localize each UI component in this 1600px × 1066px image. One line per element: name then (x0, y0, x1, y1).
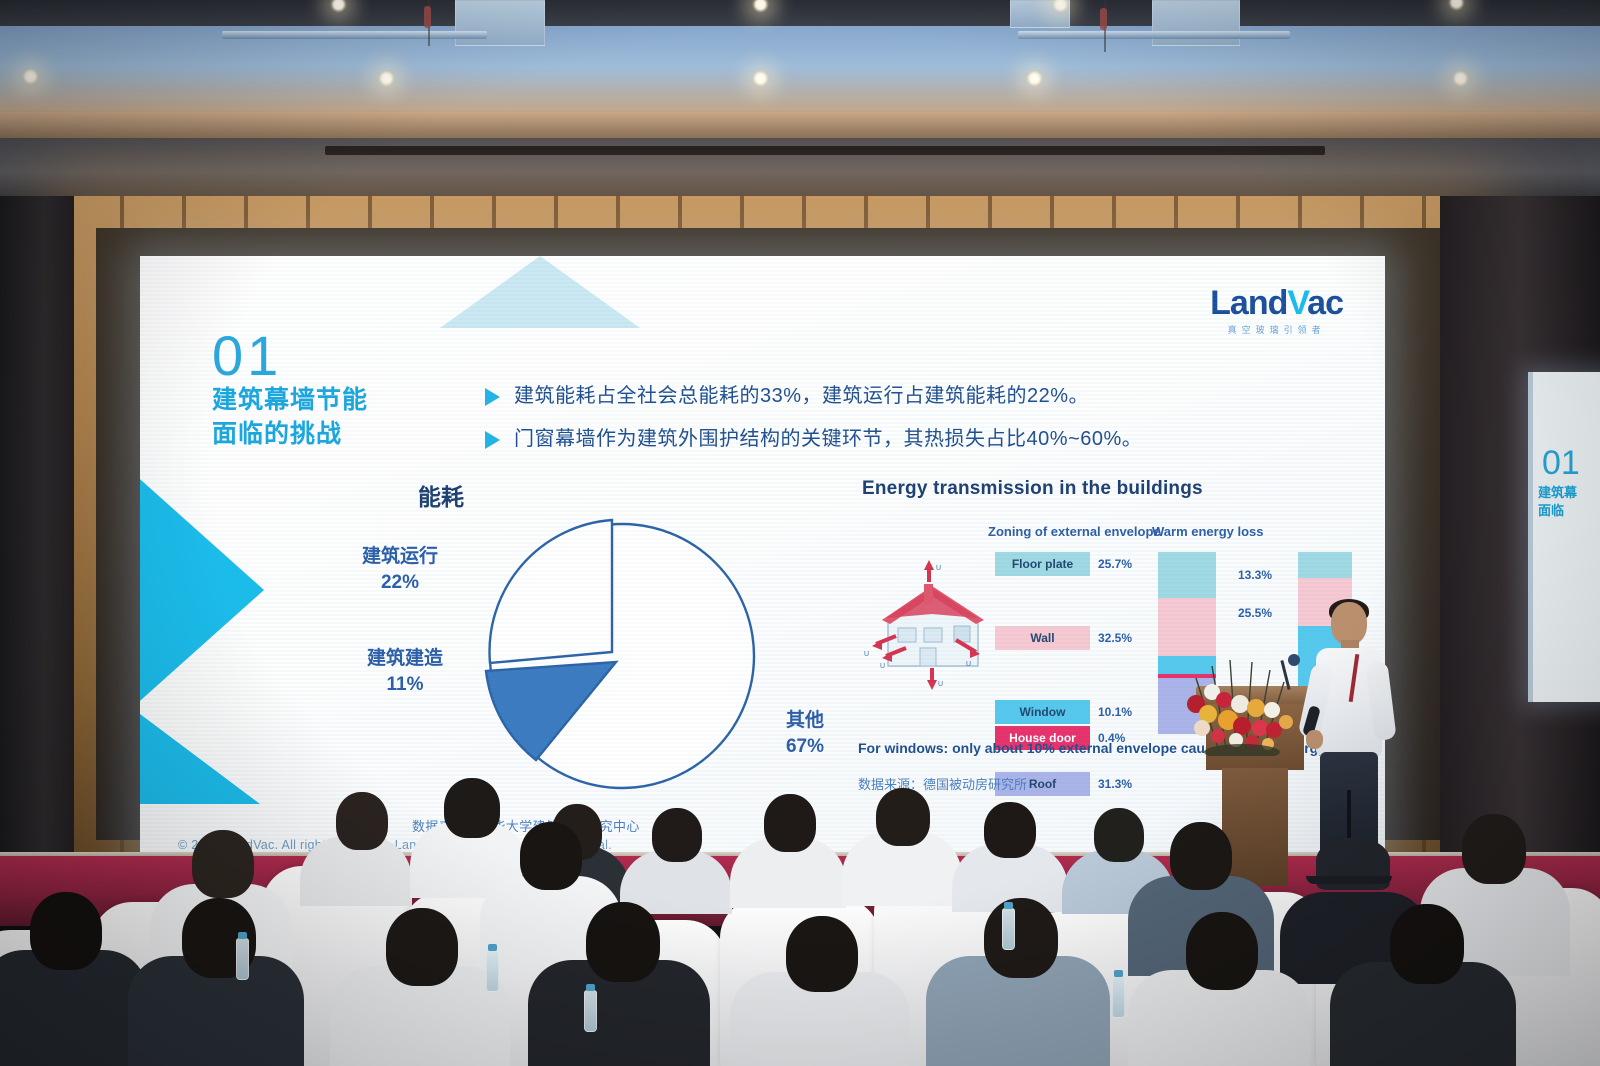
attendee-head (386, 908, 458, 986)
attendee-head (764, 794, 816, 852)
pie-label-other: 其他 67% (760, 708, 850, 759)
attendee-head (192, 830, 254, 898)
secondary-slide-number: 01 (1542, 444, 1580, 483)
warm-segment-floor-plate (1298, 552, 1352, 578)
pie-label-other-value: 67% (760, 734, 850, 760)
attendee-head (444, 778, 500, 838)
pie-label-construction-value: 11% (340, 672, 470, 698)
energy-section-title: Energy transmission in the buildings (862, 478, 1203, 500)
zoning-legend: Floor plate Wall Window House door Roof (995, 552, 1090, 798)
pie-chart (470, 506, 760, 796)
floral-arrangement (1178, 648, 1306, 756)
pie-slice-operation (490, 520, 612, 663)
attendee-head (1390, 904, 1464, 984)
zoning-value-window: 10.1% (1098, 700, 1152, 724)
decorative-triangle-left (140, 472, 264, 708)
audience (0, 780, 1600, 1066)
attendee-cap-brim (1306, 876, 1392, 884)
attendee-head (1170, 822, 1232, 890)
slide-heading: 建筑幕墙节能 面临的挑战 (212, 384, 442, 452)
attendee-head (586, 902, 660, 982)
zoning-column-header: Zoning of external envelope (988, 524, 1161, 539)
soffit-recess (325, 146, 1325, 155)
slide-heading-line-2: 面临的挑战 (212, 418, 442, 452)
slide-heading-line-1: 建筑幕墙节能 (212, 384, 442, 418)
secondary-projection-screen: 01 建筑幕 面临 (1528, 372, 1600, 702)
svg-text:U: U (880, 663, 885, 670)
secondary-heading-line-1: 建筑幕 (1538, 484, 1577, 502)
svg-text:U: U (864, 651, 869, 658)
attendee-head (336, 792, 388, 850)
bottle-cap (1114, 970, 1123, 977)
attendee-head (652, 808, 702, 862)
bullet-list: 建筑能耗占全社会总能耗的33%，建筑运行占建筑能耗的22%。 门窗幕墙作为建筑外… (485, 382, 1185, 468)
ceiling-beam (0, 0, 1600, 26)
attendee-head (30, 892, 102, 970)
triangle-bullet-icon (485, 431, 500, 449)
ceiling-downlight (1452, 70, 1469, 87)
legend-window: Window (995, 700, 1090, 724)
ceiling-downlight (22, 68, 39, 85)
bottle-cap (238, 932, 247, 939)
attendee-head (1462, 814, 1526, 884)
zoning-value-wall: 32.5% (1098, 626, 1152, 650)
ceiling-downlight (378, 70, 395, 87)
water-bottle (486, 950, 499, 992)
conference-hall-photo: 01 建筑幕墙节能 面临的挑战 建筑能耗占全社会总能耗的33%，建筑运行占建筑能… (0, 0, 1600, 1066)
logo-text-land: Land (1210, 284, 1287, 322)
bullet-text: 建筑能耗占全社会总能耗的33%，建筑运行占建筑能耗的22%。 (514, 382, 1089, 411)
water-bottle (1002, 908, 1015, 950)
logo-text-v: V (1287, 284, 1307, 322)
attendee-head (520, 822, 582, 890)
pie-label-operation-value: 22% (340, 570, 460, 596)
pie-label-construction: 建筑建造 11% (340, 646, 470, 697)
bottle-cap (586, 984, 595, 991)
ceiling-panel (1152, 0, 1240, 46)
attendee-head (786, 916, 858, 992)
pie-label-operation: 建筑运行 22% (340, 544, 460, 595)
warm-loss-column-header: Warm energy loss (1152, 524, 1264, 539)
attendee-head (984, 898, 1058, 978)
attendee-head (1094, 808, 1144, 862)
ceiling-downlight (1026, 70, 1043, 87)
attendee-head (984, 802, 1036, 858)
ceiling-hanging-object (424, 6, 431, 28)
bottle-cap (1004, 902, 1013, 909)
landvac-logo: LandVac 真空玻璃引领者 (1210, 286, 1343, 336)
logo-wordmark: LandVac (1210, 286, 1343, 320)
svg-text:U: U (966, 661, 971, 668)
zoning-value-column: 25.7% 32.5% 10.1% 0.4% 31.3% (1098, 552, 1152, 798)
warm-loss-value-2: 25.5% (1238, 606, 1272, 620)
water-bottle (236, 938, 249, 980)
zoning-value-floor-plate: 25.7% (1098, 552, 1152, 576)
pie-chart-svg (470, 506, 760, 796)
water-bottle (1112, 976, 1125, 1018)
pie-label-construction-name: 建筑建造 (367, 648, 443, 669)
bullet-text: 门窗幕墙作为建筑外围护结构的关键环节，其热损失占比40%~60%。 (514, 425, 1142, 454)
secondary-heading-line-2: 面临 (1538, 502, 1577, 520)
ceiling-panel (455, 0, 545, 46)
bullet-item: 门窗幕墙作为建筑外围护结构的关键环节，其热损失占比40%~60%。 (485, 425, 1185, 454)
legend-wall: Wall (995, 626, 1090, 650)
slide-number: 01 (212, 328, 282, 384)
bottle-cap (488, 944, 497, 951)
logo-text-ac: ac (1307, 284, 1343, 322)
ceiling-light-slot (1018, 31, 1290, 39)
bullet-item: 建筑能耗占全社会总能耗的33%，建筑运行占建筑能耗的22%。 (485, 382, 1185, 411)
water-bottle (584, 990, 597, 1032)
secondary-slide-heading: 建筑幕 面临 (1538, 484, 1577, 520)
triangle-bullet-icon (485, 388, 500, 406)
ceiling-hanging-object (1100, 8, 1107, 30)
presenter-head (1331, 602, 1367, 645)
attendee-head (1186, 912, 1258, 990)
attendee-head (876, 788, 930, 846)
svg-text:U: U (938, 681, 943, 688)
pie-label-other-name: 其他 (786, 710, 824, 731)
warm-loss-value-1: 13.3% (1238, 568, 1272, 582)
logo-tagline: 真空玻璃引领者 (1210, 323, 1343, 336)
ceiling-light-slot (222, 31, 487, 39)
pie-label-operation-name: 建筑运行 (362, 546, 438, 567)
bar-segment-floor-plate (1158, 552, 1216, 598)
pie-chart-title: 能耗 (418, 478, 464, 512)
ceiling-downlight (752, 70, 769, 87)
svg-text:U: U (936, 565, 941, 572)
house-diagram-icon: U U U U U (858, 556, 1008, 696)
presenter-hand (1306, 730, 1323, 749)
screen-edge-mullion (1528, 372, 1533, 702)
decorative-triangle-top (440, 256, 640, 328)
legend-floor-plate: Floor plate (995, 552, 1090, 576)
